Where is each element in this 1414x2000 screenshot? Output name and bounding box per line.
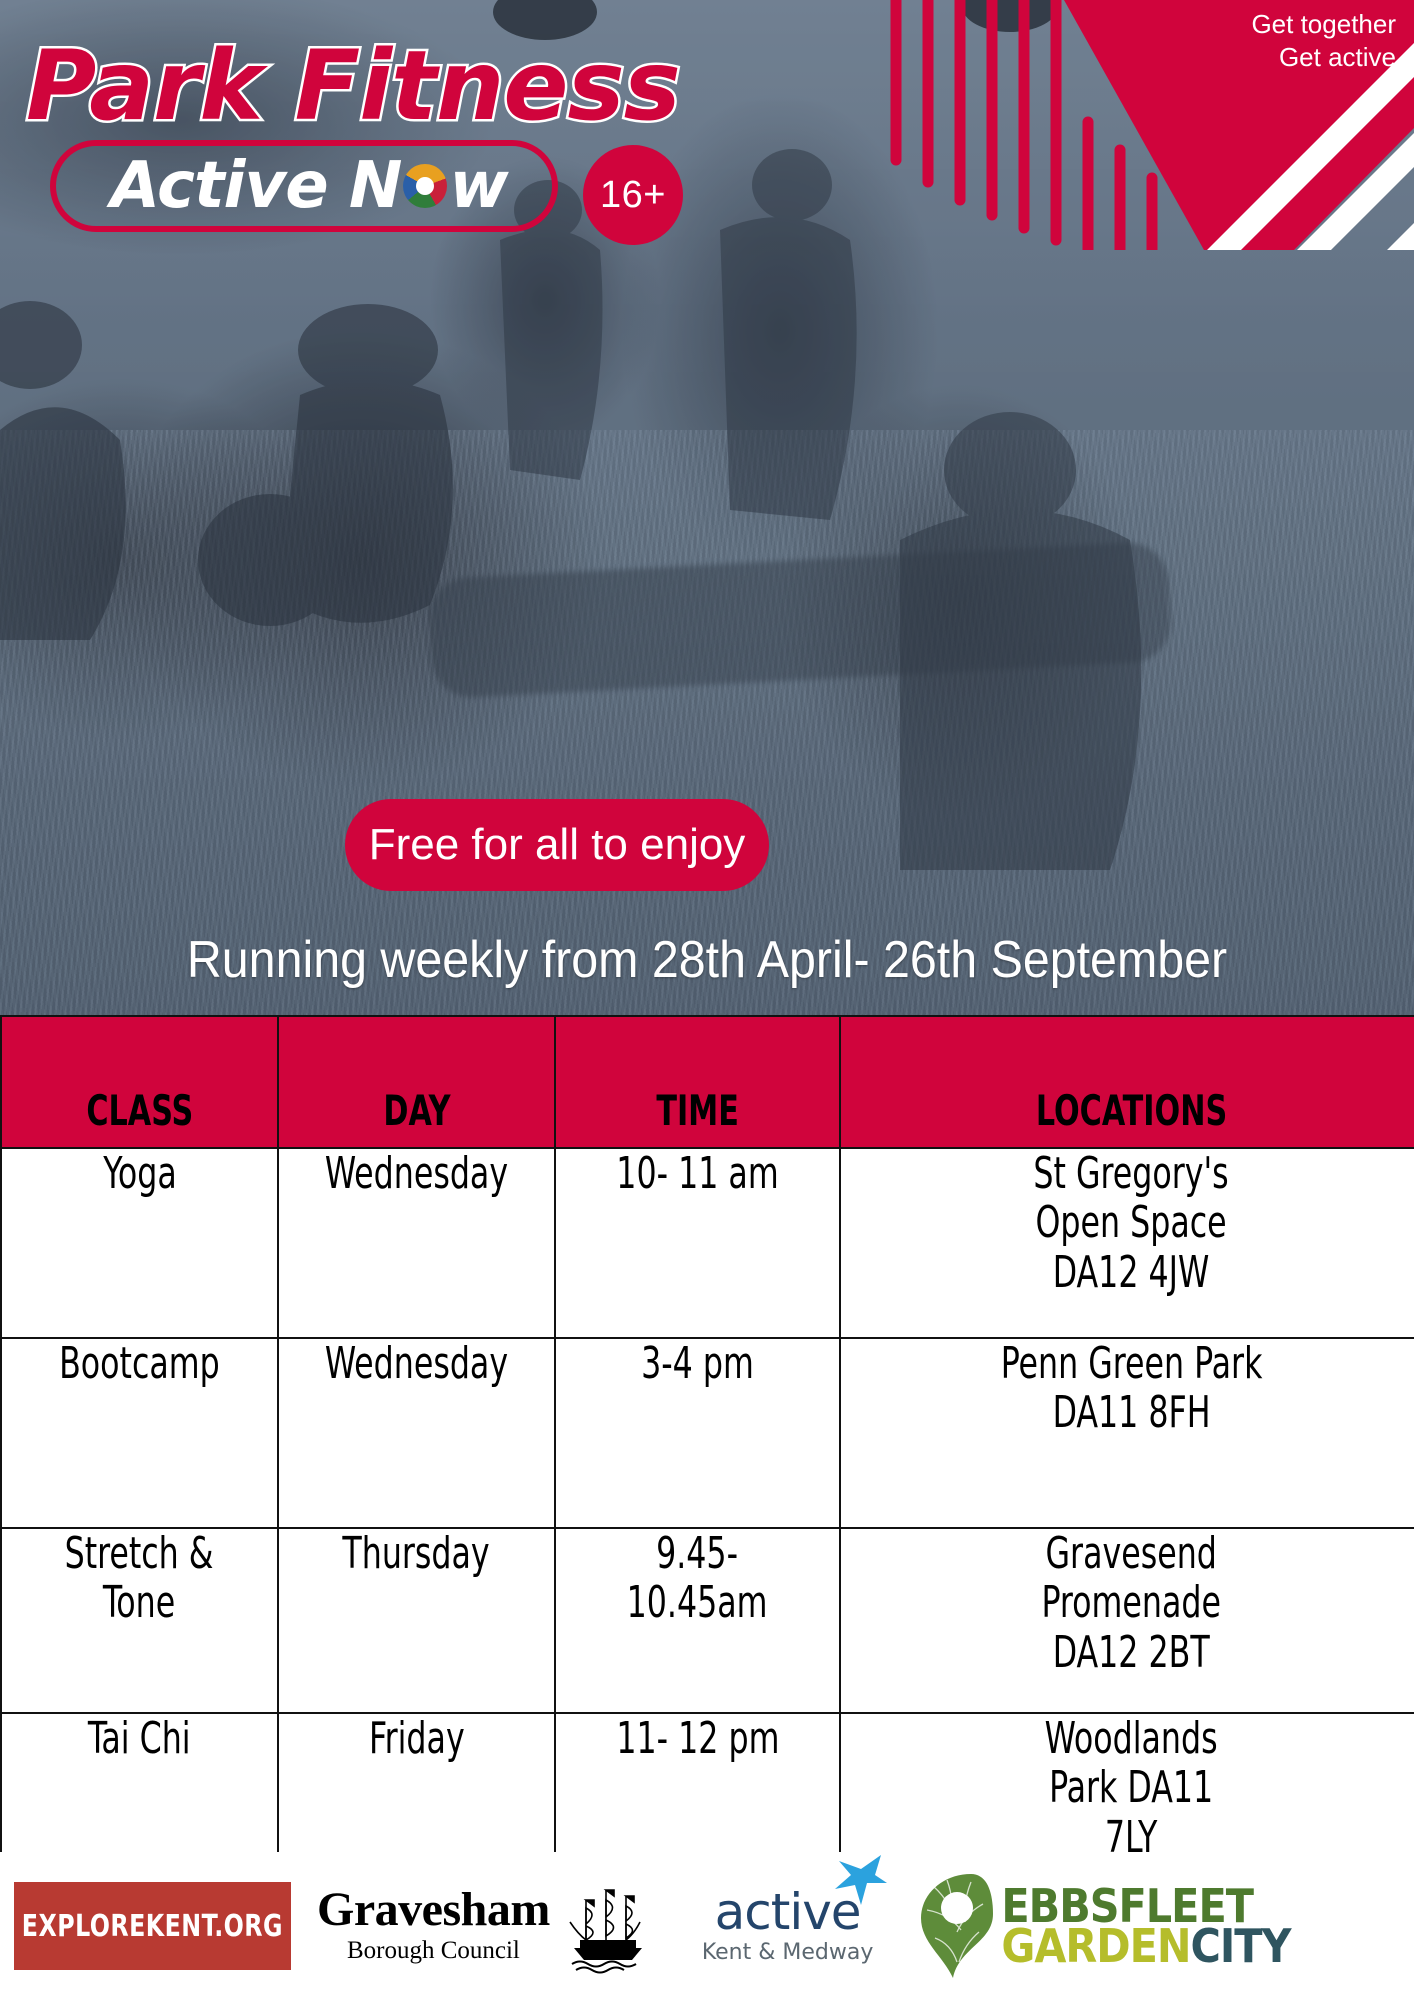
- ebbsfleet-wordmark: EBBSFLEET GARDENCITY: [1001, 1886, 1290, 1967]
- page-title: Park Fitness: [26, 30, 680, 142]
- explore-kent-logo: EXPLOREKENT.ORG: [14, 1882, 291, 1970]
- poster-root: Park Fitness Active Nw 16+ Get together …: [0, 0, 1414, 2000]
- cell-location: St Gregory'sOpen SpaceDA12 4JW: [840, 1148, 1414, 1338]
- explore-kent-label: EXPLOREKENT.ORG: [22, 1909, 283, 1944]
- garden-word: GARDEN: [1001, 1919, 1190, 1973]
- cell-class: Stretch &Tone: [1, 1528, 278, 1713]
- footer-logo-bar: EXPLOREKENT.ORG Gravesham Borough Counci…: [0, 1852, 1414, 2000]
- cell-day: Thursday: [278, 1528, 555, 1713]
- gravesham-borough-council-logo: Gravesham Borough Council: [317, 1878, 656, 1974]
- gravesham-line-1: Gravesham: [317, 1886, 550, 1934]
- cell-location: GravesendPromenadeDA12 2BT: [840, 1528, 1414, 1713]
- active-now-logo: Active Nw: [74, 146, 544, 226]
- column-header-day: DAY: [278, 1016, 555, 1148]
- leaf-map-pin-icon: [913, 1870, 1001, 1982]
- active-subtitle: Kent & Medway: [702, 1940, 874, 1965]
- city-word: CITY: [1191, 1919, 1291, 1973]
- cell-class: Bootcamp: [1, 1338, 278, 1528]
- running-dates-text: Running weekly from 28th April- 26th Sep…: [49, 930, 1364, 990]
- column-header-class: CLASS: [1, 1016, 278, 1148]
- tagline: Get together Get active: [1251, 8, 1396, 75]
- gravesham-wordmark: Gravesham Borough Council: [317, 1886, 550, 1966]
- gravesham-line-2: Borough Council: [317, 1936, 550, 1966]
- column-header-time: TIME: [555, 1016, 840, 1148]
- cell-location: Penn Green ParkDA11 8FH: [840, 1338, 1414, 1528]
- active-now-text-before: Active N: [110, 149, 401, 223]
- blue-star-person-icon: [831, 1853, 889, 1907]
- table-row: Yoga Wednesday 10- 11 am St Gregory'sOpe…: [1, 1148, 1414, 1338]
- age-badge: 16+: [583, 145, 683, 245]
- free-for-all-label: Free for all to enjoy: [369, 820, 746, 870]
- column-header-locations: LOCATIONS: [840, 1016, 1414, 1148]
- tagline-line-2: Get active: [1251, 41, 1396, 74]
- table-header-row: CLASS DAY TIME LOCATIONS: [1, 1016, 1414, 1148]
- schedule-table: CLASS DAY TIME LOCATIONS Yoga Wednesday …: [0, 1015, 1414, 1896]
- active-now-text-after: w: [449, 149, 507, 223]
- ebbsfleet-garden-city-logo: EBBSFLEET GARDENCITY: [913, 1870, 1290, 1982]
- cell-day: Wednesday: [278, 1338, 555, 1528]
- cell-class: Yoga: [1, 1148, 278, 1338]
- table-row: Bootcamp Wednesday 3-4 pm Penn Green Par…: [1, 1338, 1414, 1528]
- active-kent-medway-logo: active Kent & Medway: [702, 1887, 874, 1965]
- table-row: Stretch &Tone Thursday 9.45-10.45am Grav…: [1, 1528, 1414, 1713]
- hero-section: Park Fitness Active Nw 16+ Get together …: [0, 0, 1414, 1015]
- cell-time: 9.45-10.45am: [555, 1528, 840, 1713]
- tagline-line-1: Get together: [1251, 8, 1396, 41]
- rainbow-circle-o-icon: [403, 164, 447, 208]
- ebbsfleet-line-2: GARDENCITY: [1001, 1926, 1290, 1966]
- cell-time: 3-4 pm: [555, 1338, 840, 1528]
- free-for-all-badge: Free for all to enjoy: [345, 799, 769, 891]
- age-badge-label: 16+: [600, 174, 666, 217]
- cell-day: Wednesday: [278, 1148, 555, 1338]
- sailing-ship-icon: [560, 1878, 656, 1974]
- cell-time: 10- 11 am: [555, 1148, 840, 1338]
